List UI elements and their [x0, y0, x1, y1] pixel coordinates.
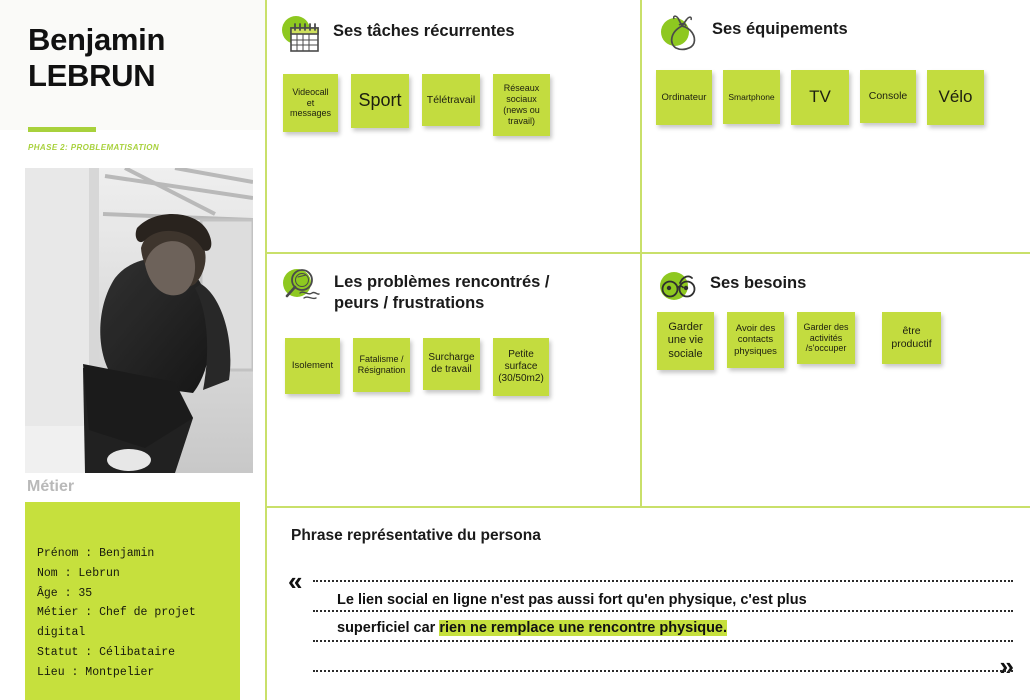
metier-heading: Métier — [27, 478, 74, 496]
persona-first-name: Benjamin — [28, 22, 165, 57]
sticky-note[interactable]: Videocall et messages — [283, 74, 338, 132]
sticky-note[interactable]: Surcharge de travail — [423, 338, 480, 390]
sticky-note[interactable]: Smartphone — [723, 70, 780, 124]
dotted-line — [313, 670, 1013, 672]
sticky-note[interactable]: Avoir des contacts physiques — [727, 312, 784, 368]
phase-label: PHASE 2: PROBLEMATISATION — [28, 143, 159, 152]
section-taches-recurrentes: Ses tâches récurrentes Videocall et mess… — [265, 0, 641, 252]
quote-line-2-highlight: rien ne remplace une rencontre physique. — [439, 620, 727, 636]
page-title: Benjamin LEBRUN — [28, 22, 258, 95]
sticky-note[interactable]: Console — [860, 70, 916, 123]
sticky-note[interactable]: TV — [791, 70, 849, 125]
sticky-note[interactable]: Isolement — [285, 338, 340, 394]
section-header: Ses équipements — [658, 10, 848, 54]
name-block: Benjamin LEBRUN — [0, 0, 266, 130]
sticky-note[interactable]: Sport — [351, 74, 409, 128]
glasses-icon — [656, 264, 700, 308]
sticky-note[interactable]: Ordinateur — [656, 70, 712, 125]
section-besoins: Ses besoins Garder une vie sociale Avoir… — [641, 254, 1030, 506]
section-problemes: Les problèmes rencontrés / peurs / frust… — [265, 254, 641, 506]
sticky-note[interactable]: Réseaux sociaux (news ou travail) — [493, 74, 550, 136]
quote-open-mark: « — [288, 568, 302, 594]
persona-last-name: LEBRUN — [28, 58, 258, 94]
section-title-line2: peurs / frustrations — [334, 294, 484, 312]
notes-row: Garder une vie sociale Avoir des contact… — [657, 312, 941, 370]
sticky-note[interactable]: Garder des activités /s'occuper — [797, 312, 855, 364]
section-title-line1: Les problèmes rencontrés / — [334, 273, 550, 291]
section-title: Ses équipements — [712, 10, 848, 40]
sticky-note[interactable]: Vélo — [927, 70, 984, 125]
persona-photo — [25, 168, 253, 473]
calendar-icon — [279, 12, 323, 56]
quote-line-1: Le lien social en ligne n'est pas aussi … — [337, 592, 807, 608]
notes-row: Isolement Fatalisme / Résignation Surcha… — [285, 338, 549, 396]
quote-line-2-plain: superficiel car — [337, 620, 439, 636]
persona-info-list: Prénom : Benjamin Nom : Lebrun Âge : 35 … — [37, 544, 233, 682]
sticky-note[interactable]: Télétravail — [422, 74, 480, 126]
accent-divider — [28, 127, 96, 132]
section-title: Les problèmes rencontrés / peurs / frust… — [334, 263, 550, 313]
sticky-note[interactable]: Fatalisme / Résignation — [353, 338, 410, 392]
left-panel: Benjamin LEBRUN PHASE 2: PROBLEMATISATIO… — [0, 0, 266, 700]
section-phrase-persona: Phrase représentative du persona « » Le … — [265, 508, 1030, 700]
section-header: Ses besoins — [656, 264, 806, 308]
sticky-note[interactable]: Garder une vie sociale — [657, 312, 714, 370]
notes-row: Videocall et messages Sport Télétravail … — [283, 74, 550, 136]
persona-canvas: Benjamin LEBRUN PHASE 2: PROBLEMATISATIO… — [0, 0, 1030, 700]
portrait-photo-icon — [25, 168, 253, 473]
dotted-line — [313, 580, 1013, 582]
sticky-note[interactable]: Petite surface (30/50m2) — [493, 338, 549, 396]
section-title: Ses besoins — [710, 264, 806, 294]
section-equipements: Ses équipements Ordinateur Smartphone TV… — [641, 0, 1030, 252]
section-header: Les problèmes rencontrés / peurs / frust… — [280, 263, 550, 313]
sticky-note[interactable]: être productif — [882, 312, 941, 364]
bag-icon — [658, 10, 702, 54]
section-title: Ses tâches récurrentes — [333, 12, 515, 42]
persona-info-card: Prénom : Benjamin Nom : Lebrun Âge : 35 … — [25, 502, 240, 700]
quote-text: Le lien social en ligne n'est pas aussi … — [337, 587, 997, 643]
magnifier-icon — [280, 263, 324, 307]
section-header: Ses tâches récurrentes — [279, 12, 515, 56]
quote-heading: Phrase représentative du persona — [291, 527, 541, 545]
notes-row: Ordinateur Smartphone TV Console Vélo — [656, 70, 984, 125]
